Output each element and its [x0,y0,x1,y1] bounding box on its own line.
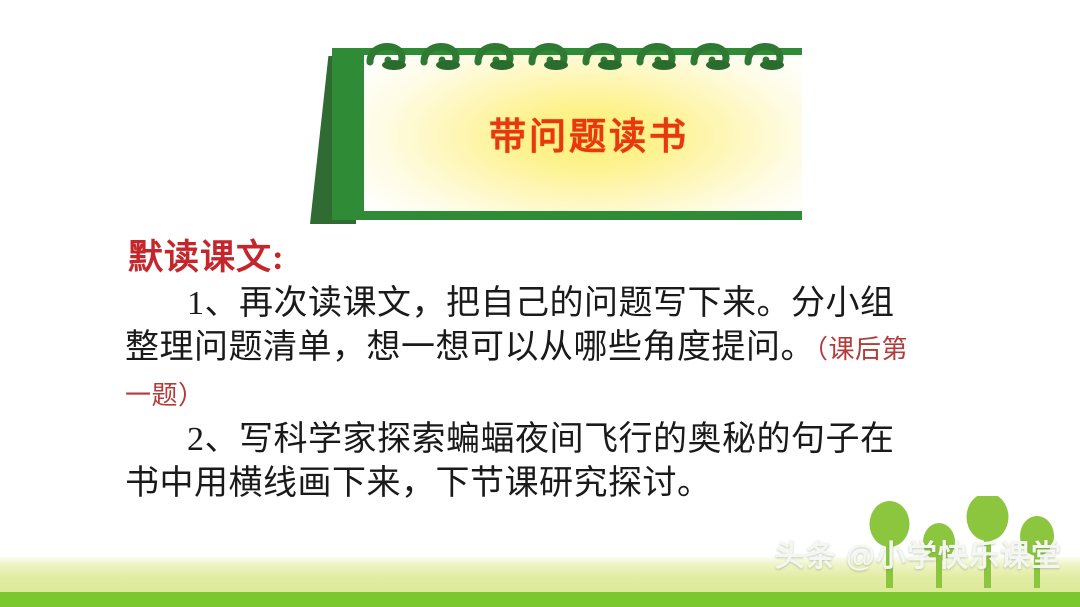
item-1-note: （课后第 [815,335,908,364]
footer-band-solid [0,592,1080,607]
item-1-note-cont: 一题） [125,381,205,410]
item-1-note-line: 一题） [0,372,1080,418]
section-heading: 默读课文: [0,236,1080,280]
body-copy: 默读课文: 1、再次读课文，把自己的问题写下来。分小组 整理问题清单，想一想可以… [0,236,1080,506]
item-1-line-1-text: 1、再次读课文，把自己的问题写下来。分小组 [187,285,895,322]
spiral-binding-icon [332,32,802,72]
card-green-frame: 带问题读书 [332,48,802,220]
item-2-line-1-text: 2、写科学家探索蝙蝠夜间飞行的奥秘的句子在 [187,421,895,458]
slide-canvas: 带问题读书 [0,0,1080,607]
item-1-line-1: 1、再次读课文，把自己的问题写下来。分小组 [0,282,1080,326]
title-card-text: 带问题读书 [489,106,689,160]
item-2-line-2-text: 书中用横线画下来，下节课研究探讨。 [125,465,712,502]
watermark-text: 头条 @小学快乐课堂 [774,531,1062,575]
card-face: 带问题读书 [364,55,814,211]
item-1-line-2-text: 整理问题清单，想一想可以从哪些角度提问。 [125,329,815,366]
item-2-line-1: 2、写科学家探索蝙蝠夜间飞行的奥秘的句子在 [0,418,1080,462]
title-card: 带问题读书 [310,48,810,228]
item-1-line-2: 整理问题清单，想一想可以从哪些角度提问。（课后第 [0,326,1080,372]
